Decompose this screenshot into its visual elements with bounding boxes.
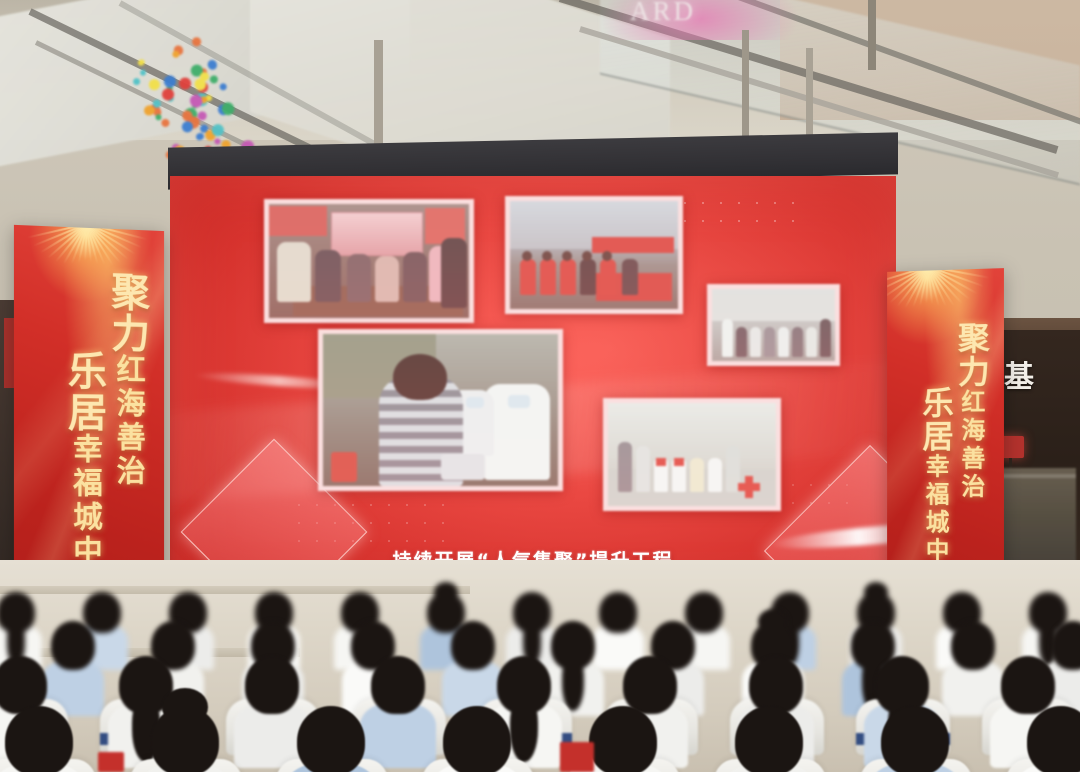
led-photo-indoor-gathering xyxy=(264,199,474,323)
banner-right-col1-rest: 红海善治 xyxy=(957,389,985,502)
audience-member-head xyxy=(599,592,636,632)
audience-member-hair-bun xyxy=(434,582,459,604)
balloon xyxy=(191,36,202,47)
audience-member-head xyxy=(1001,656,1056,714)
audience-member-head xyxy=(1051,621,1080,670)
audience-member xyxy=(284,716,378,772)
audience-member-hair-bun xyxy=(864,582,889,604)
photo-5-screen-haze xyxy=(608,403,776,506)
banner-left-column-1: 聚力红海善治 xyxy=(106,271,147,490)
balloon xyxy=(148,78,162,92)
led-photo-volunteers-outdoor xyxy=(505,196,683,314)
balloon xyxy=(137,58,146,67)
banner-left-col1-lead: 聚力 xyxy=(105,271,150,355)
audience-member-head xyxy=(371,656,426,714)
balloon xyxy=(162,74,177,89)
led-photo-free-clinic xyxy=(318,329,563,491)
audience-member-hair-bun xyxy=(758,609,788,635)
red-program-booklet xyxy=(98,752,124,772)
audience-member xyxy=(722,716,816,772)
audience-member-head xyxy=(51,621,96,670)
photo-4-screen-haze xyxy=(323,334,558,486)
audience-member-head xyxy=(589,706,657,772)
audience-member xyxy=(0,716,86,772)
audience-member-head xyxy=(951,621,996,670)
audience-member xyxy=(430,716,524,772)
banner-right-column-2: 乐居幸福城中 xyxy=(919,386,952,566)
audience-member xyxy=(138,716,232,772)
balloon xyxy=(219,82,228,91)
banner-left-col1-rest: 红海善治 xyxy=(111,354,145,490)
audience-member-head xyxy=(735,706,803,772)
red-program-booklet xyxy=(560,742,594,772)
balloon xyxy=(209,74,219,84)
banner-right-col1-lead: 聚力 xyxy=(953,321,990,389)
audience-member-head xyxy=(749,656,804,714)
balloon xyxy=(132,77,142,87)
audience-member-head xyxy=(685,592,722,632)
banner-right-column-1: 聚力红海善治 xyxy=(954,321,988,502)
audience-member xyxy=(1014,716,1080,772)
banner-left-col2-lead: 乐居 xyxy=(61,349,107,433)
audience-member-head xyxy=(451,621,496,670)
balloon xyxy=(206,59,218,71)
balloon xyxy=(139,69,147,77)
photo-2-screen-haze xyxy=(510,201,678,309)
audience-member-hair-bun xyxy=(162,688,207,726)
audience-member-head xyxy=(1027,706,1080,772)
audience-member-head xyxy=(297,706,365,772)
audience-member-head xyxy=(83,592,120,632)
led-screen: 持续开展“人气集聚”提升工程 xyxy=(170,176,896,608)
audience-member-ponytail xyxy=(562,656,584,711)
banner-right-col2-lead: 乐居 xyxy=(917,386,954,454)
led-photo-indoor-group xyxy=(707,284,840,366)
banner-left-col2-rest: 幸福城中 xyxy=(67,433,102,570)
photo-1-screen-haze xyxy=(269,204,469,318)
audience-member xyxy=(868,716,962,772)
banner-left-column-2: 乐居幸福城中 xyxy=(62,349,104,569)
balloon xyxy=(177,76,193,92)
audience-member-head xyxy=(245,656,300,714)
event-photo-scene: ARD 基 xyxy=(0,0,1080,772)
audience-member-head xyxy=(623,656,678,714)
floor-step-upper xyxy=(0,586,470,594)
structural-post-d xyxy=(868,0,876,70)
stage-backdrop: 持续开展“人气集聚”提升工程 聚力红海善治 乐居幸福城中 xyxy=(0,110,1080,580)
mall-brand-sign: ARD xyxy=(630,0,810,36)
led-photo-children-redcross xyxy=(603,398,781,511)
banner-right-col2-rest: 幸福城中 xyxy=(921,453,949,565)
balloon xyxy=(160,87,176,103)
photo-3-screen-haze xyxy=(712,289,835,361)
